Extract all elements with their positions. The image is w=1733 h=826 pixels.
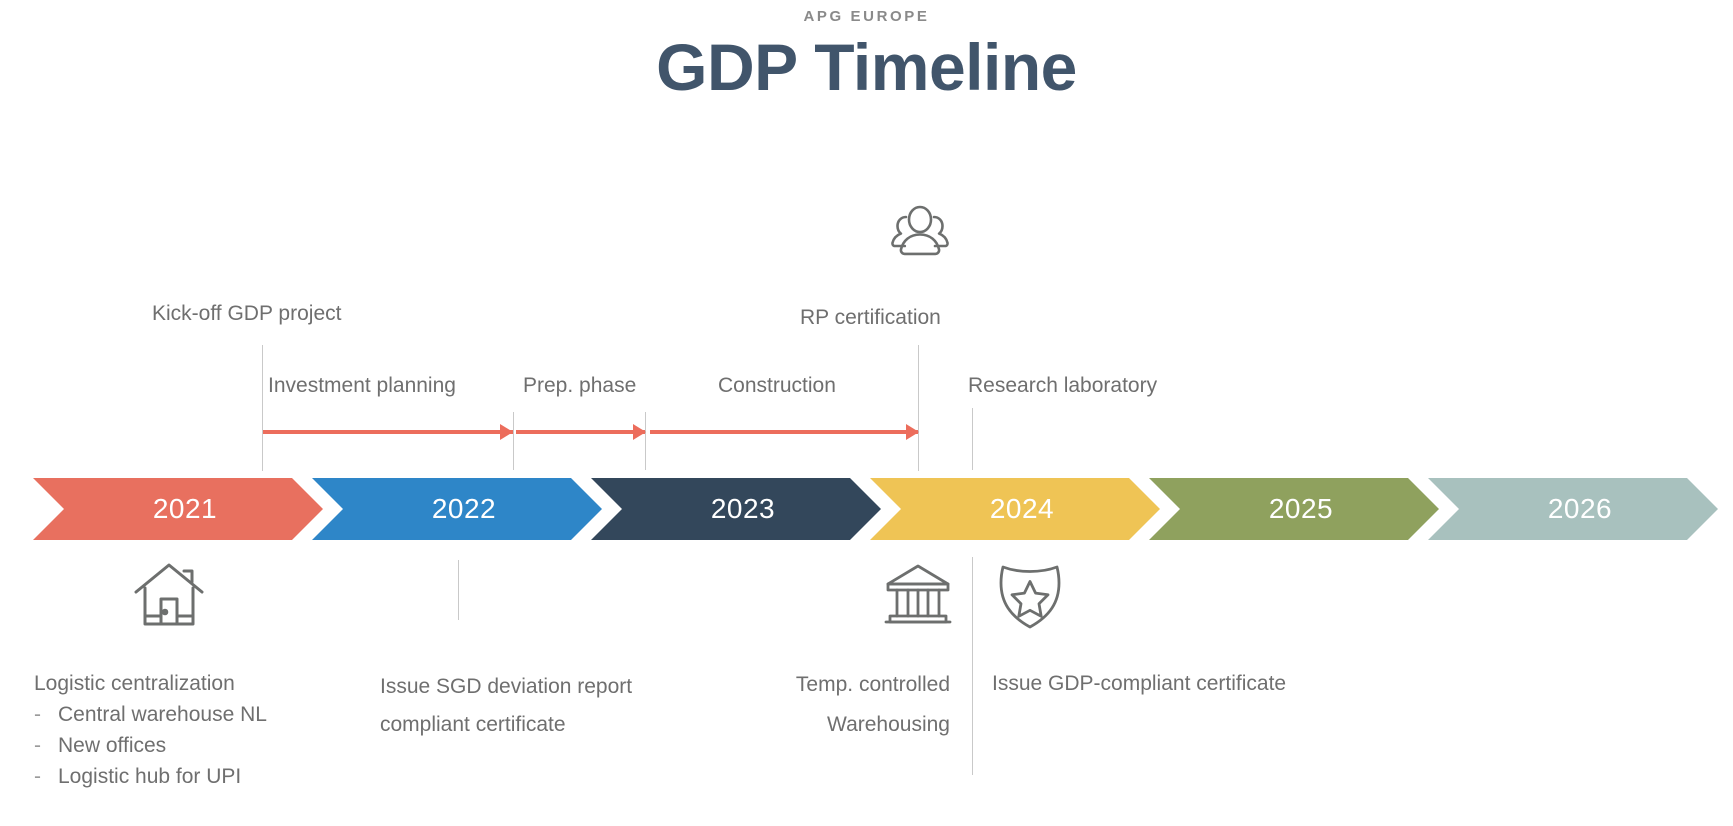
phase-label-prep-phase: Prep. phase	[523, 369, 636, 404]
year-chevron-label: 2025	[1255, 493, 1333, 525]
phase-label-research-laboratory: Research laboratory	[968, 369, 1157, 404]
house-icon	[133, 558, 205, 630]
connector-line-rp-certification	[918, 345, 919, 471]
below-item-sgd-line-2: compliant certificate	[380, 708, 566, 743]
phase-label-investment-planning: Investment planning	[268, 369, 456, 404]
list-item: - New offices	[34, 734, 267, 758]
shield-star-icon	[993, 562, 1067, 630]
connector-line-gdp-certificate	[972, 557, 973, 775]
below-item-temp-line-1: Temp. controlled	[690, 668, 950, 703]
milestone-label-kickoff: Kick-off GDP project	[152, 297, 341, 332]
connector-line-sgd-report	[458, 560, 459, 620]
phase-divider-3	[972, 408, 973, 470]
people-group-icon	[882, 203, 958, 261]
phase-arrowhead-2	[633, 424, 646, 440]
year-chevron-label: 2024	[976, 493, 1054, 525]
year-chevron-2025[interactable]: 2025	[1149, 478, 1439, 540]
bullet-dash: -	[34, 703, 58, 727]
year-chevron-band: 2021 2022 2023 2024 2025 2026	[0, 478, 1733, 540]
year-chevron-2021[interactable]: 2021	[33, 478, 323, 540]
below-item-sgd-line-1: Issue SGD deviation report	[380, 670, 632, 705]
list-item-label: Central warehouse NL	[58, 703, 267, 727]
gdp-timeline-slide: APG EUROPE GDP Timeline Kick-off GDP pro…	[0, 0, 1733, 826]
below-item-heading: Logistic centralization	[34, 672, 267, 696]
slide-eyebrow: APG EUROPE	[0, 8, 1733, 25]
year-chevron-label: 2023	[697, 493, 775, 525]
phase-arrowhead-1	[500, 424, 513, 440]
below-item-temp-line-2: Warehousing	[690, 708, 950, 743]
year-chevron-2023[interactable]: 2023	[591, 478, 881, 540]
list-item-label: Logistic hub for UPI	[58, 765, 241, 789]
year-chevron-label: 2026	[1534, 493, 1612, 525]
bullet-dash: -	[34, 734, 58, 758]
year-chevron-2024[interactable]: 2024	[870, 478, 1160, 540]
list-item: - Logistic hub for UPI	[34, 765, 267, 789]
bank-icon	[884, 562, 952, 628]
year-chevron-label: 2022	[418, 493, 496, 525]
list-item-label: New offices	[58, 734, 166, 758]
year-chevron-2026[interactable]: 2026	[1428, 478, 1718, 540]
phase-divider-1	[513, 412, 514, 470]
year-chevron-label: 2021	[139, 493, 217, 525]
below-item-logistic-centralization: Logistic centralization - Central wareho…	[34, 672, 267, 789]
phase-label-construction: Construction	[718, 369, 836, 404]
connector-line-kickoff	[262, 345, 263, 471]
below-item-gdp-certificate: Issue GDP-compliant certificate	[992, 667, 1286, 702]
page-title: GDP Timeline	[0, 33, 1733, 102]
list-item: - Central warehouse NL	[34, 703, 267, 727]
phase-arrowhead-3	[906, 424, 919, 440]
year-chevron-2022[interactable]: 2022	[312, 478, 602, 540]
bullet-dash: -	[34, 765, 58, 789]
phase-arrow-investment-planning	[263, 430, 513, 434]
phase-arrow-construction	[650, 430, 918, 434]
milestone-label-rp-certification: RP certification	[800, 301, 941, 336]
phase-arrow-prep-phase	[516, 430, 645, 434]
phase-divider-2	[645, 412, 646, 470]
